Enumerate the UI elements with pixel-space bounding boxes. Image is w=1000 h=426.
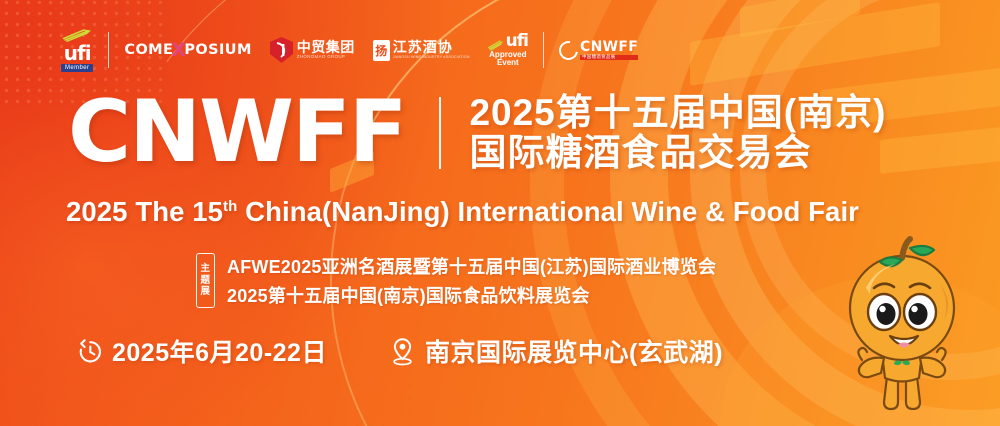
jiangsu-seal-icon: 扬 [373, 40, 390, 61]
page-title: 2025第十五届中国(南京) 国际糖酒食品交易会 [469, 93, 886, 173]
cnwff-circle-logo: CNWFF 中国糖酒食品展 [550, 26, 647, 74]
event-venue: 南京国际展览中心(玄武湖) [389, 333, 723, 369]
jiangsu-cn: 江苏酒协 [393, 40, 470, 54]
title-en: 2025 The 15th China(NanJing) Internation… [66, 196, 859, 228]
theme-line-1: AFWE2025亚洲名酒展暨第十五届中国(江苏)国际酒业博览会 [227, 253, 716, 279]
title-cn-line-1: 2025第十五届中国(南京) [469, 93, 886, 133]
event-date: 2025年6月20-22日 [76, 333, 327, 369]
theme-tag-char-2: 题 [200, 275, 210, 287]
partner-logo-strip: ufi Member COME X POSIUM 中贸集团 ZH [52, 26, 647, 74]
logo-separator-2 [543, 32, 544, 68]
event-info: 2025年6月20-22日 南京国际展览中心(玄武湖) [76, 333, 723, 369]
ufi-approved-line3: Event [497, 59, 519, 67]
brand-wordmark: CNWFF [68, 92, 405, 174]
ufi-member-label: Member [61, 64, 93, 72]
theme-tag-char-1: 主 [200, 263, 210, 275]
title-en-ordinal: th [223, 198, 237, 215]
ufi-wordmark: ufi [64, 43, 91, 63]
zhongmao-mark-icon [270, 37, 293, 63]
theme-tag-char-3: 展 [200, 286, 210, 298]
logo-separator [108, 32, 109, 68]
event-banner: ufi Member COME X POSIUM 中贸集团 ZH [0, 0, 1000, 426]
ufi-wings-icon [62, 29, 92, 42]
cnwff-logo-main: CNWFF [580, 40, 638, 54]
title-en-post: China(NanJing) International Wine & Food… [237, 196, 859, 227]
cnwff-ring-icon [555, 37, 581, 63]
event-venue-text: 南京国际展览中心(玄武湖) [425, 333, 723, 369]
ufi-approved-wordmark: ufi [506, 33, 528, 51]
theme-exhibitions: 主 题 展 AFWE2025亚洲名酒展暨第十五届中国(江苏)国际酒业博览会 20… [196, 253, 716, 308]
theme-line-2: 2025第十五届中国(南京)国际食品饮料展览会 [227, 282, 716, 308]
headline: CNWFF 2025第十五届中国(南京) 国际糖酒食品交易会 [68, 92, 886, 174]
zhongmao-group-logo: 中贸集团 ZHONGMAO GROUP [261, 26, 364, 74]
comexposium-post: POSIUM [184, 42, 251, 58]
comexposium-logo: COME X POSIUM [115, 26, 260, 74]
cnwff-logo-sub: 中国糖酒食品展 [580, 55, 638, 60]
event-date-text: 2025年6月20-22日 [112, 333, 327, 369]
ufi-member-logo: ufi Member [52, 26, 102, 74]
theme-tag: 主 题 展 [196, 253, 215, 308]
ufi-approved-wings-icon [488, 40, 505, 51]
headline-divider [439, 97, 441, 169]
zhongmao-en: ZHONGMAO GROUP [297, 55, 355, 60]
clock-icon [76, 338, 103, 365]
jiangsu-wine-association-logo: 扬 江苏酒协 JIANGSU WINE INDUSTRY ASSOCIATION [364, 26, 479, 74]
title-en-pre: 2025 The 15 [66, 196, 223, 227]
zhongmao-cn: 中贸集团 [297, 40, 355, 54]
dot-pattern-bottom-left [0, 366, 420, 426]
ufi-approved-event-logo: ufi Approved Event [479, 26, 537, 74]
location-pin-icon [389, 337, 416, 366]
jiangsu-en: JIANGSU WINE INDUSTRY ASSOCIATION [393, 56, 470, 60]
title-cn-line-2: 国际糖酒食品交易会 [469, 133, 886, 173]
orange-mascot-thumbs-up [818, 236, 986, 418]
comexposium-pre: COME [124, 42, 173, 58]
